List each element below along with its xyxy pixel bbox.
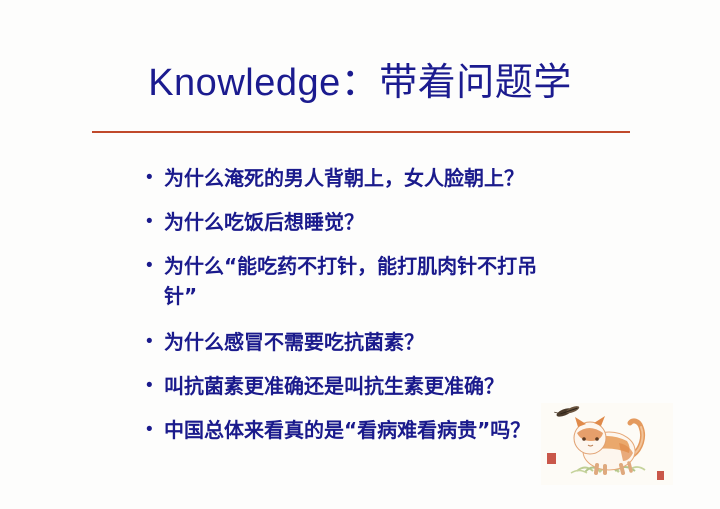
bullet-line-1: 叫抗菌素更准确还是叫抗生素更准确？ bbox=[164, 374, 504, 398]
list-item: • 为什么感冒不需要吃抗菌素？ bbox=[146, 327, 616, 357]
title-divider-line bbox=[92, 131, 630, 133]
bullet-text: 为什么淹死的男人背朝上，女人脸朝上？ bbox=[164, 163, 616, 193]
bullet-line-1: 为什么感冒不需要吃抗菌素？ bbox=[164, 330, 424, 354]
slide-title: Knowledge：带着问题学 bbox=[0, 62, 720, 105]
bullet-line-2: 针” bbox=[164, 281, 616, 311]
bullet-marker-icon: • bbox=[146, 327, 164, 357]
slide-title-latin: Knowledge bbox=[148, 62, 341, 104]
bullet-marker-icon: • bbox=[146, 251, 164, 281]
bullet-line-1: 为什么淹死的男人背朝上，女人脸朝上？ bbox=[164, 166, 524, 190]
bullet-line-1: 为什么“能吃药不打针，能打肌肉针不打吊 bbox=[164, 254, 537, 278]
decorative-cat-painting-image bbox=[541, 403, 673, 485]
bullet-marker-icon: • bbox=[146, 163, 164, 193]
bullet-marker-icon: • bbox=[146, 371, 164, 401]
slide-title-cjk: 带着问题学 bbox=[379, 60, 572, 104]
bullet-line-1: 中国总体来看真的是“看病难看病贵”吗？ bbox=[164, 418, 530, 442]
bullet-marker-icon: • bbox=[146, 415, 164, 445]
list-item: • 为什么淹死的男人背朝上，女人脸朝上？ bbox=[146, 163, 616, 193]
bullet-text: 为什么“能吃药不打针，能打肌肉针不打吊针” bbox=[164, 251, 616, 311]
slide-title-separator: ： bbox=[341, 60, 380, 104]
list-item: • 为什么“能吃药不打针，能打肌肉针不打吊针” bbox=[146, 251, 616, 311]
bullet-line-1: 为什么吃饭后想睡觉？ bbox=[164, 210, 364, 234]
list-item: • 为什么吃饭后想睡觉？ bbox=[146, 207, 616, 237]
bullet-marker-icon: • bbox=[146, 207, 164, 237]
bullet-text: 叫抗菌素更准确还是叫抗生素更准确？ bbox=[164, 371, 616, 401]
bullet-text: 为什么吃饭后想睡觉？ bbox=[164, 207, 616, 237]
list-item: • 叫抗菌素更准确还是叫抗生素更准确？ bbox=[146, 371, 616, 401]
presentation-slide: Knowledge：带着问题学 • 为什么淹死的男人背朝上，女人脸朝上？ • 为… bbox=[0, 0, 720, 509]
bullet-text: 为什么感冒不需要吃抗菌素？ bbox=[164, 327, 616, 357]
